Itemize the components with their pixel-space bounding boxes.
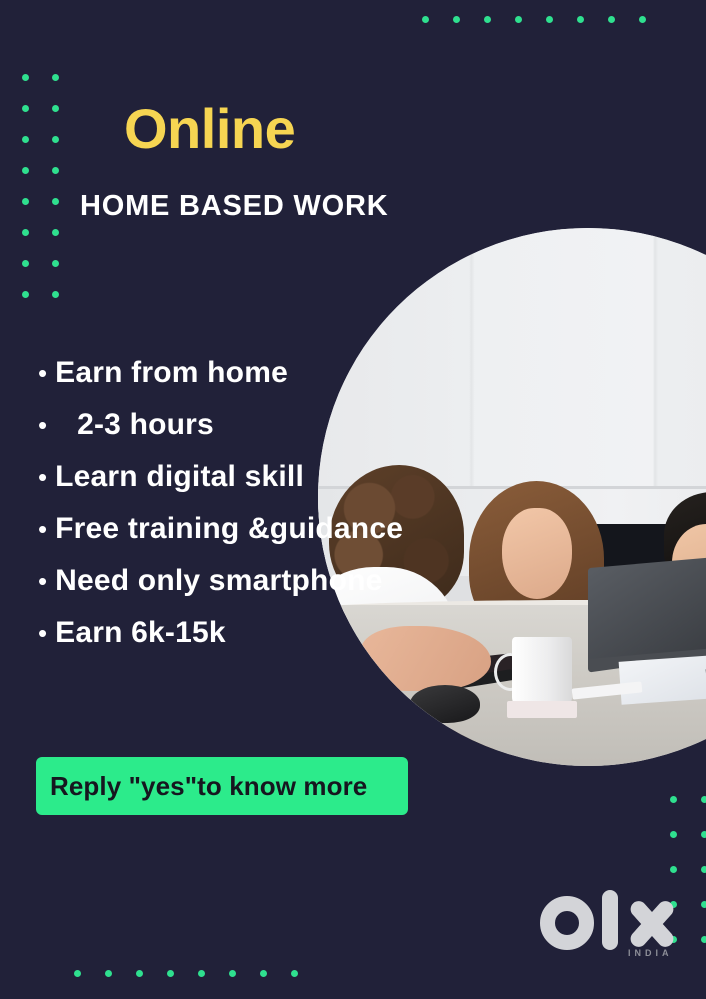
bullet-icon: • [38, 516, 47, 542]
olx-logo: INDIA [540, 890, 690, 962]
benefit-label: Need only smartphone [55, 564, 382, 598]
decorative-dot [167, 970, 174, 977]
decorative-dot [22, 198, 29, 205]
benefit-item: •2-3 hours [38, 408, 678, 460]
benefit-item: •Free training &guidance [38, 512, 678, 564]
benefit-item: •Earn from home [38, 356, 678, 408]
decorative-dot [52, 260, 59, 267]
decorative-dot [701, 901, 706, 908]
decorative-dot [22, 105, 29, 112]
decorative-dot [198, 970, 205, 977]
bullet-icon: • [38, 568, 47, 594]
page-subtitle: HOME BASED WORK [80, 190, 388, 223]
decorative-dot [422, 16, 429, 23]
dot-grid-bottom [62, 968, 310, 978]
decorative-dot [484, 16, 491, 23]
decorative-dot [701, 831, 706, 838]
decorative-dot [453, 16, 460, 23]
olx-tagline: INDIA [628, 948, 673, 958]
decorative-dot [260, 970, 267, 977]
decorative-dot [52, 105, 59, 112]
decorative-dot [639, 16, 646, 23]
decorative-dot [515, 16, 522, 23]
decorative-dot [52, 167, 59, 174]
dot-grid-left [10, 62, 70, 310]
benefit-label: Learn digital skill [55, 460, 304, 494]
decorative-dot [546, 16, 553, 23]
decorative-dot [670, 866, 677, 873]
reply-yes-cta-button[interactable]: Reply "yes"to know more [36, 757, 408, 815]
decorative-dot [701, 796, 706, 803]
decorative-dot [701, 866, 706, 873]
decorative-dot [52, 74, 59, 81]
decorative-dot [577, 16, 584, 23]
decorative-dot [22, 136, 29, 143]
decorative-dot [52, 229, 59, 236]
decorative-dot [22, 229, 29, 236]
decorative-dot [670, 796, 677, 803]
promo-poster: Online HOME BASED WORK •Earn from home•2… [0, 0, 706, 999]
benefit-item: •Need only smartphone [38, 564, 678, 616]
decorative-dot [52, 136, 59, 143]
olx-letter-o-icon [540, 896, 594, 950]
decorative-dot [74, 970, 81, 977]
decorative-dot [608, 16, 615, 23]
benefit-label: Free training &guidance [55, 512, 403, 546]
benefit-label: 2-3 hours [55, 408, 214, 442]
bullet-icon: • [38, 620, 47, 646]
benefit-label: Earn 6k-15k [55, 616, 226, 650]
decorative-dot [105, 970, 112, 977]
page-title: Online [124, 96, 295, 161]
decorative-dot [22, 74, 29, 81]
decorative-dot [22, 167, 29, 174]
decorative-dot [22, 291, 29, 298]
benefit-item: •Learn digital skill [38, 460, 678, 512]
decorative-dot [670, 831, 677, 838]
photo-mug-coaster [507, 701, 577, 717]
olx-letter-x-icon [626, 898, 678, 950]
bullet-icon: • [38, 360, 47, 386]
decorative-dot [291, 970, 298, 977]
dot-grid-top [410, 14, 658, 24]
decorative-dot [701, 936, 706, 943]
decorative-dot [22, 260, 29, 267]
decorative-dot [52, 291, 59, 298]
decorative-dot [52, 198, 59, 205]
olx-letter-l-icon [602, 890, 618, 950]
benefit-label: Earn from home [55, 356, 288, 390]
decorative-dot [136, 970, 143, 977]
benefits-list: •Earn from home•2-3 hours•Learn digital … [38, 356, 678, 668]
photo-mouse [410, 685, 480, 723]
benefit-item: •Earn 6k-15k [38, 616, 678, 668]
decorative-dot [229, 970, 236, 977]
bullet-icon: • [38, 412, 47, 438]
bullet-icon: • [38, 464, 47, 490]
